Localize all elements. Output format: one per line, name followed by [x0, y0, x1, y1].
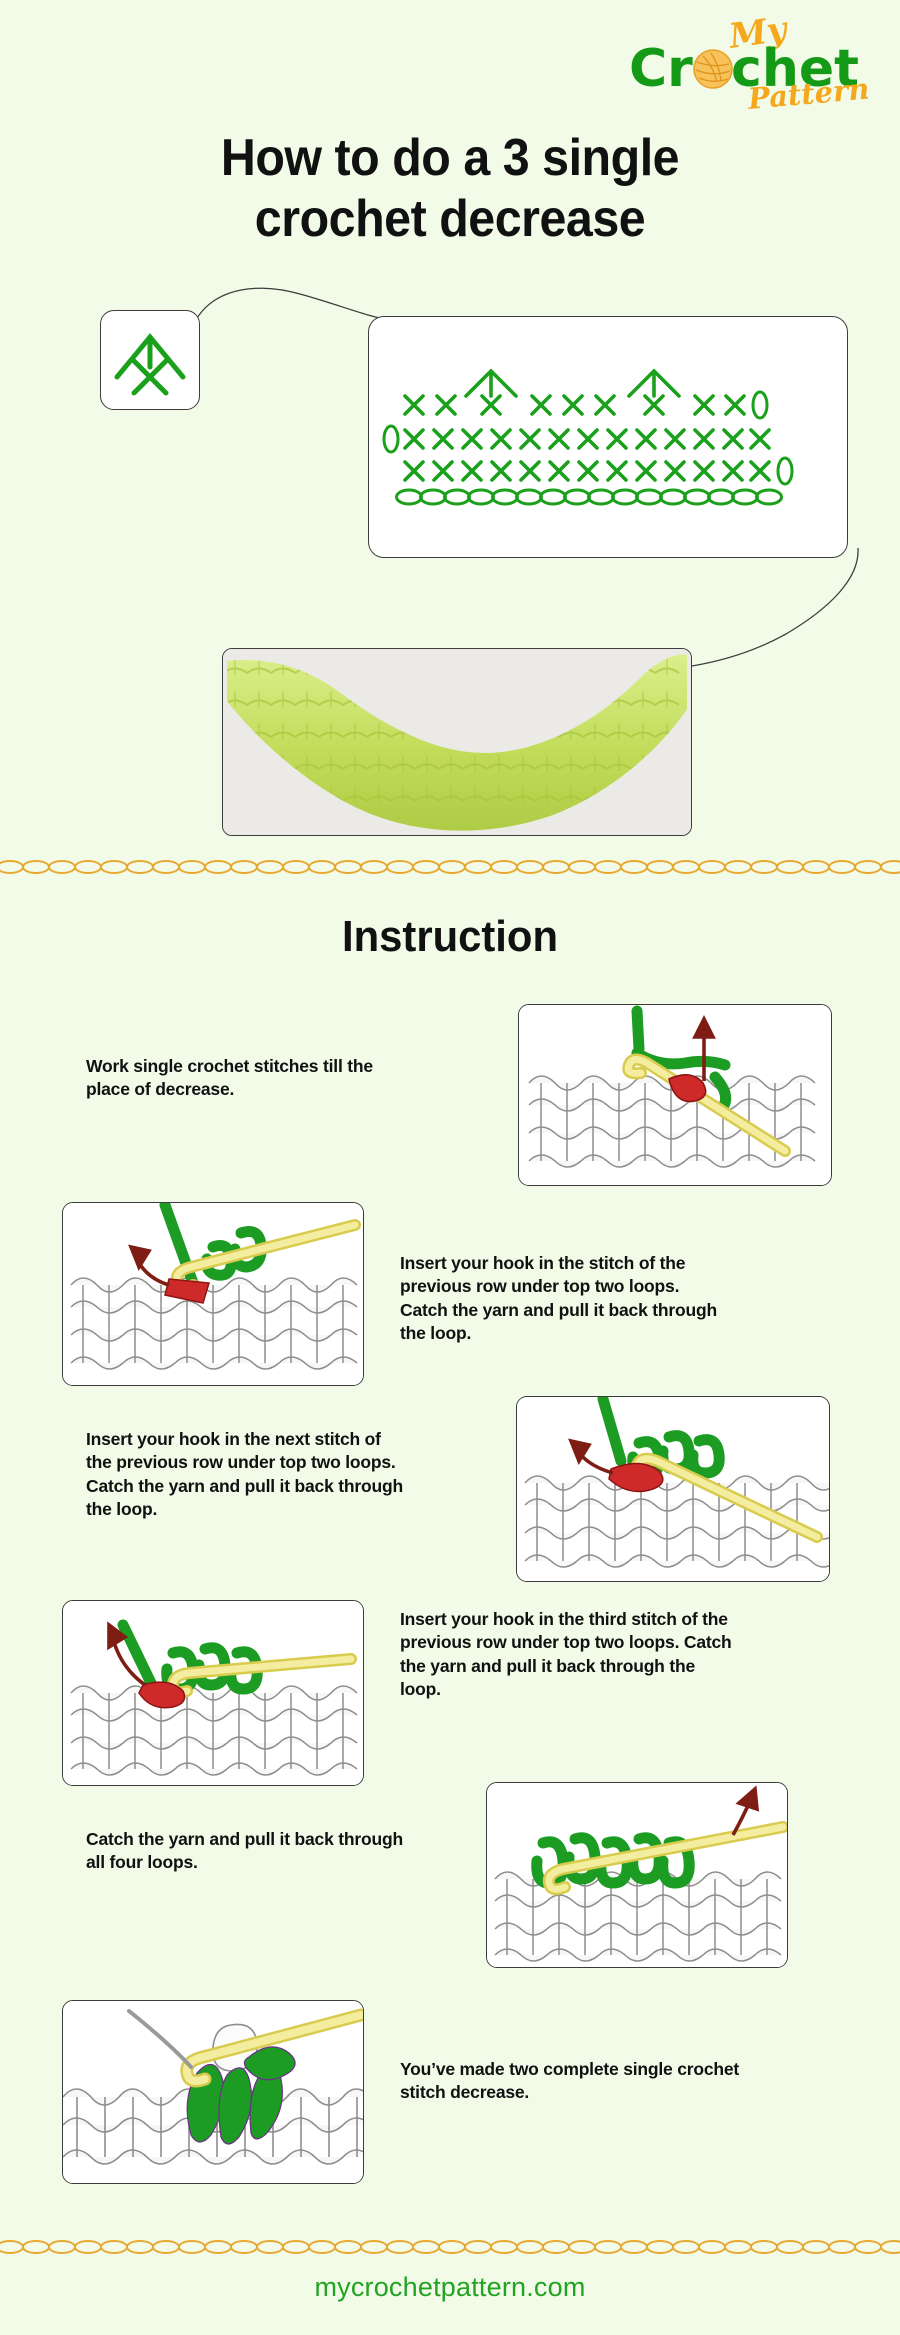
- instruction-heading: Instruction: [23, 912, 878, 962]
- three-single-crochet-decrease-icon: [101, 311, 199, 409]
- stitch-chart-box: [368, 316, 848, 558]
- chart-row-2: [384, 426, 769, 452]
- site-logo[interactable]: My Cr chet Pattern: [615, 14, 890, 112]
- step-4-text: Insert your hook in the third stitch of …: [400, 1608, 740, 1701]
- turning-chain-row3: [753, 392, 767, 418]
- chain-divider-bottom: [0, 2236, 900, 2258]
- stitch-chart-diagram: [369, 317, 847, 557]
- step-1-text: Work single crochet stitches till the pl…: [86, 1055, 396, 1102]
- page-title: How to do a 3 single crochet decrease: [32, 128, 869, 250]
- chart-row-1: [405, 458, 792, 484]
- swatch-photo: [222, 648, 692, 836]
- page-title-line1: How to do a 3 single: [32, 128, 869, 189]
- step-3-text: Insert your hook in the next stitch of t…: [86, 1428, 406, 1521]
- stitch-symbol-box: [100, 310, 200, 410]
- chart-foundation-chain: [397, 490, 782, 504]
- infographic-page: My Cr chet Pattern How to do a 3 single …: [0, 0, 900, 2335]
- callout-tail-top: [180, 280, 400, 340]
- step-3-image: [516, 1396, 830, 1582]
- step-1-image: [518, 1004, 832, 1186]
- callout-tail-bottom: [690, 548, 870, 668]
- page-title-line2: crochet decrease: [32, 189, 869, 250]
- step-2-text: Insert your hook in the stitch of the pr…: [400, 1252, 730, 1345]
- step-2-image: [62, 1202, 364, 1386]
- turning-chain-row2: [384, 426, 398, 452]
- step-6-text: You’ve made two complete single crochet …: [400, 2058, 740, 2105]
- footer-site-link[interactable]: mycrochetpattern.com: [0, 2272, 900, 2303]
- chain-divider-top: [0, 856, 900, 878]
- turning-chain-row1: [778, 458, 792, 484]
- step-5-image: [486, 1782, 788, 1968]
- logo-cr-text: Cr: [629, 39, 693, 99]
- chart-row-3: [405, 371, 767, 418]
- yarn-ball-icon: [694, 50, 732, 88]
- step-6-image: [62, 2000, 364, 2184]
- step-4-image: [62, 1600, 364, 1786]
- step-5-text: Catch the yarn and pull it back through …: [86, 1828, 406, 1875]
